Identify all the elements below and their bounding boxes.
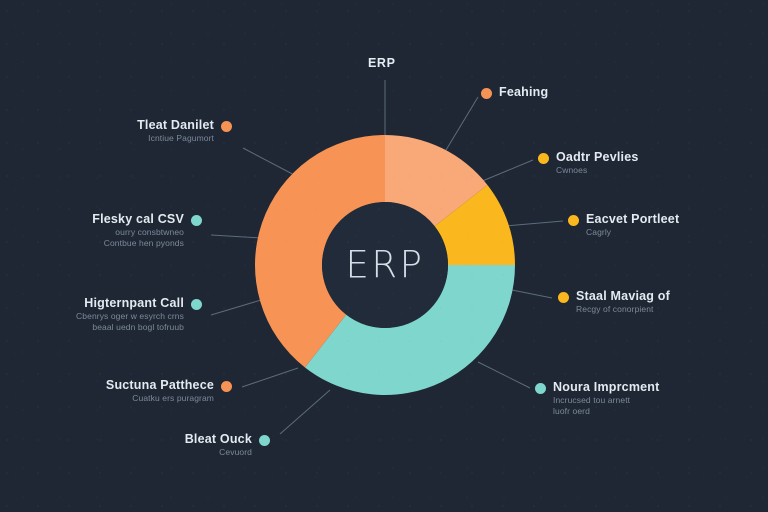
callout-subtitle: Icntiue Pagumort bbox=[148, 133, 214, 143]
callout-text-block: Flesky cal CSVourry consbtwneoContbue he… bbox=[92, 212, 184, 248]
callout-suctuna-patthece[interactable]: Suctuna PattheceCuatku ers puragram bbox=[106, 378, 232, 403]
callout-subtitle: Contbue hen pyonds bbox=[104, 238, 184, 248]
leader-line-flesky-cal-csv bbox=[211, 235, 262, 238]
callout-title: Tleat Danilet bbox=[137, 118, 214, 132]
leader-line-eacvet-portleet bbox=[505, 221, 563, 226]
callout-text-block: Noura ImprcmentIncrucsed tou arnettluofr… bbox=[553, 380, 660, 416]
callout-marker-dot[interactable] bbox=[221, 381, 232, 392]
callout-subtitle: Cuatku ers puragram bbox=[132, 393, 214, 403]
callout-staal-maviag-of[interactable]: Staal Maviag ofRecgy of conorpient bbox=[558, 289, 670, 314]
callout-eacvet-portleet[interactable]: Eacvet PortleetCagrly bbox=[568, 212, 679, 237]
callout-noura-imprcment[interactable]: Noura ImprcmentIncrucsed tou arnettluofr… bbox=[535, 380, 660, 416]
callout-text-block: Tleat DaniletIcntiue Pagumort bbox=[137, 118, 214, 143]
leader-line-feahing bbox=[443, 97, 478, 155]
callout-title: Flesky cal CSV bbox=[92, 212, 184, 226]
callout-marker-dot[interactable] bbox=[558, 292, 569, 303]
leader-line-staal-maviag-of bbox=[512, 290, 552, 298]
callout-title: Bleat Ouck bbox=[185, 432, 252, 446]
callout-marker-dot[interactable] bbox=[481, 88, 492, 99]
callout-subtitle: Recgy of conorpient bbox=[576, 304, 654, 314]
leader-line-noura-imprcment bbox=[478, 362, 530, 388]
callout-subtitle: Cbenrys oger w esyrch crns bbox=[76, 311, 184, 321]
callout-title: Oadtr Pevlies bbox=[556, 150, 639, 164]
callout-title: Suctuna Patthece bbox=[106, 378, 214, 392]
callout-subtitle: Cagrly bbox=[586, 227, 611, 237]
top-label-erp: ERP bbox=[368, 56, 396, 70]
donut-center-label: ERP bbox=[346, 244, 425, 287]
callout-title: Eacvet Portleet bbox=[586, 212, 679, 226]
callout-text-block: Suctuna PattheceCuatku ers puragram bbox=[106, 378, 214, 403]
callout-feahing[interactable]: Feahing bbox=[481, 85, 548, 99]
callout-title: Feahing bbox=[499, 85, 548, 99]
callout-text-block: Oadtr PevliesCwnoes bbox=[556, 150, 639, 175]
callout-subtitle: Cwnoes bbox=[556, 165, 587, 175]
callout-marker-dot[interactable] bbox=[259, 435, 270, 446]
callout-title: Noura Imprcment bbox=[553, 380, 660, 394]
leader-line-higternpant-call bbox=[211, 300, 261, 315]
callout-marker-dot[interactable] bbox=[568, 215, 579, 226]
callout-subtitle: ourry consbtwneo bbox=[115, 227, 184, 237]
callout-bleat-ouck[interactable]: Bleat OuckCevuord bbox=[185, 432, 270, 457]
callout-higternpant-call[interactable]: Higternpant CallCbenrys oger w esyrch cr… bbox=[76, 296, 202, 332]
callout-text-block: Eacvet PortleetCagrly bbox=[586, 212, 679, 237]
callout-text-block: Staal Maviag ofRecgy of conorpient bbox=[576, 289, 670, 314]
callout-oadtr-pevlies[interactable]: Oadtr PevliesCwnoes bbox=[538, 150, 639, 175]
callout-text-block: Higternpant CallCbenrys oger w esyrch cr… bbox=[76, 296, 184, 332]
callout-title: Staal Maviag of bbox=[576, 289, 670, 303]
callout-marker-dot[interactable] bbox=[538, 153, 549, 164]
callout-subtitle: Incrucsed tou arnett bbox=[553, 395, 630, 405]
callout-flesky-cal-csv[interactable]: Flesky cal CSVourry consbtwneoContbue he… bbox=[92, 212, 202, 248]
callout-subtitle: beaal uedn bogl tofruub bbox=[92, 322, 184, 332]
leader-line-bleat-ouck bbox=[280, 390, 330, 434]
callout-subtitle: Cevuord bbox=[219, 447, 252, 457]
callout-marker-dot[interactable] bbox=[191, 215, 202, 226]
callout-text-block: Bleat OuckCevuord bbox=[185, 432, 252, 457]
leader-line-oadtr-pevlies bbox=[480, 160, 533, 182]
leader-line-tleat-danilet bbox=[243, 148, 300, 178]
callout-subtitle: luofr oerd bbox=[553, 406, 590, 416]
callout-marker-dot[interactable] bbox=[535, 383, 546, 394]
callout-tleat-danilet[interactable]: Tleat DaniletIcntiue Pagumort bbox=[137, 118, 232, 143]
leader-line-suctuna-patthece bbox=[242, 368, 298, 387]
callout-marker-dot[interactable] bbox=[221, 121, 232, 132]
callout-title: Higternpant Call bbox=[84, 296, 184, 310]
callout-marker-dot[interactable] bbox=[191, 299, 202, 310]
callout-text-block: Feahing bbox=[499, 85, 548, 99]
diagram-canvas: ERP ERP Tleat DaniletIcntiue PagumortFle… bbox=[0, 0, 768, 512]
